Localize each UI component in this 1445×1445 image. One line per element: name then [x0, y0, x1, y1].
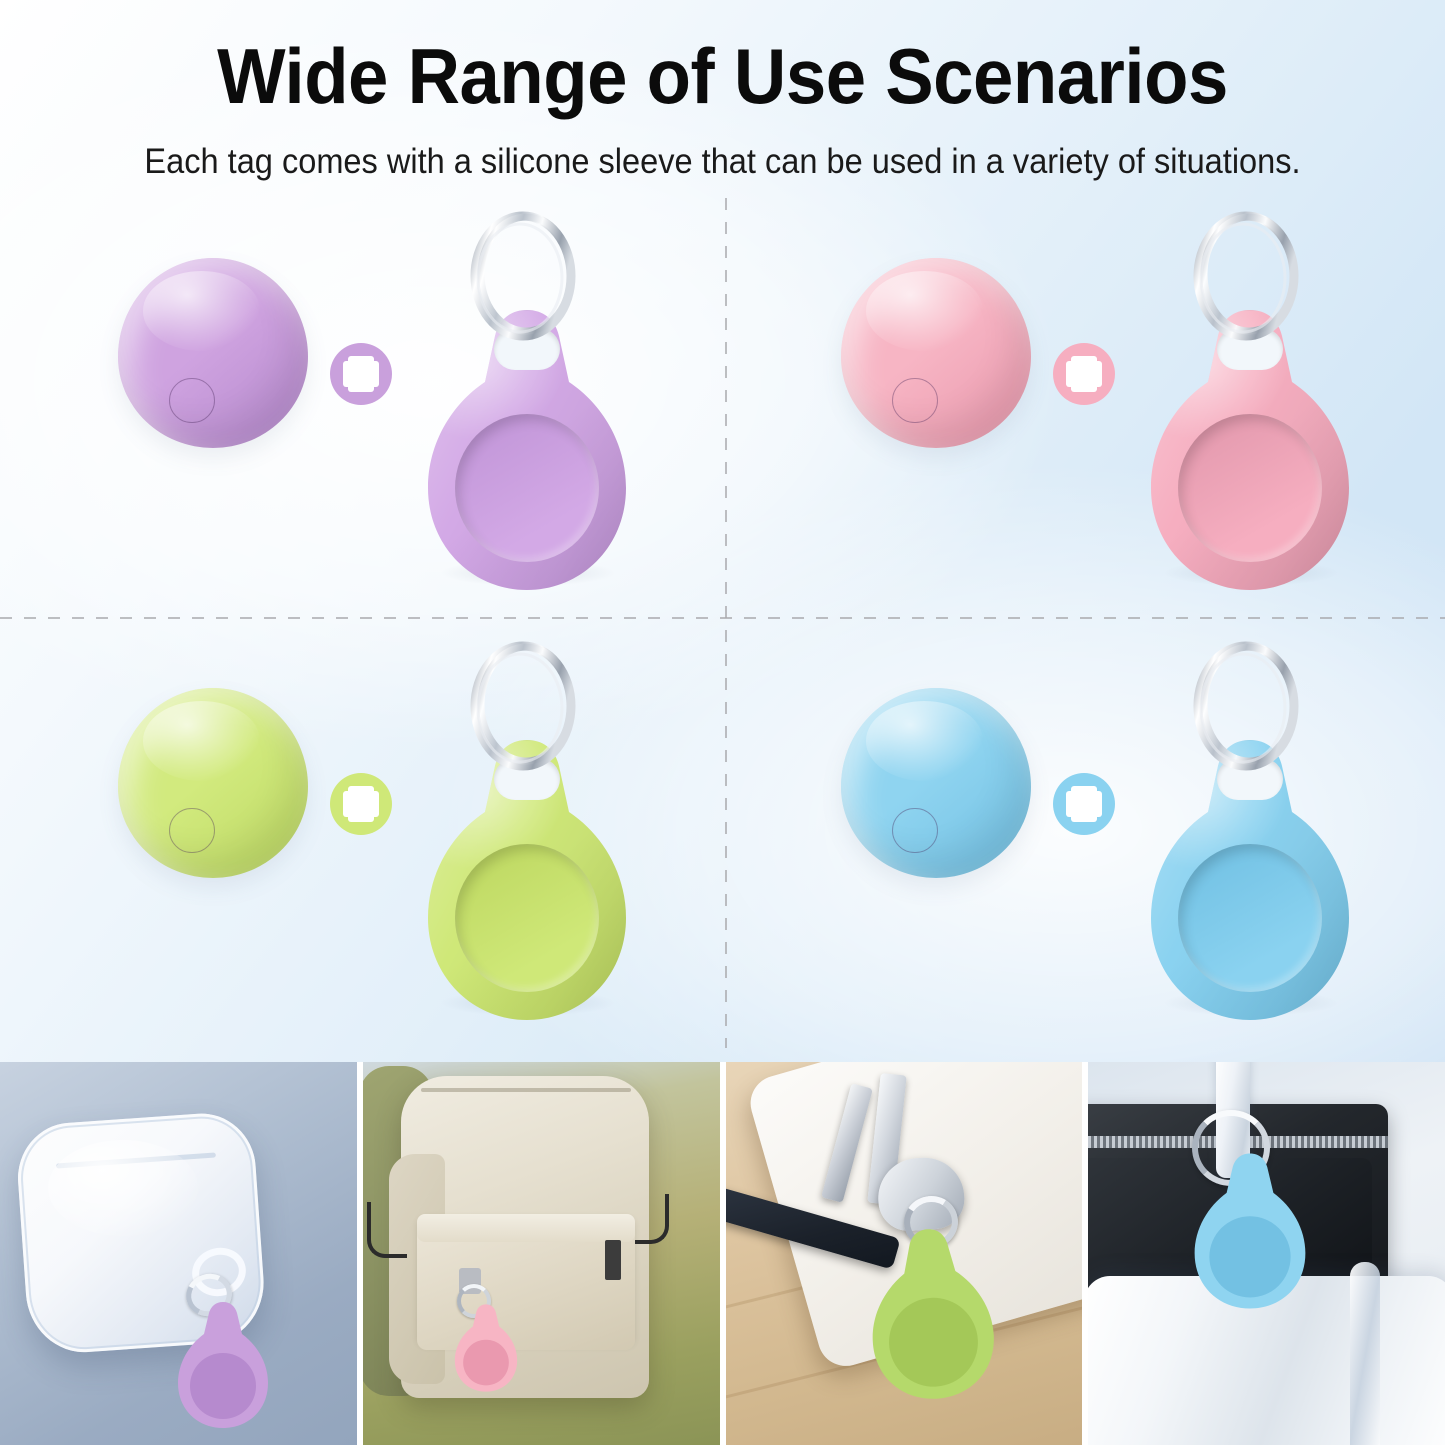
tracker-button-icon[interactable]	[892, 378, 938, 424]
suitcase-edge-highlight	[1350, 1262, 1380, 1445]
scenario-photo-luggage[interactable]	[1088, 1062, 1445, 1445]
case-recess	[455, 414, 599, 562]
tracker-tag-purple[interactable]	[118, 258, 308, 448]
tracker-tag-pink[interactable]	[841, 258, 1031, 448]
earbuds-case-highlight	[48, 1140, 198, 1236]
product-set-blue	[723, 630, 1445, 1050]
backpack-pocket-lip	[417, 1214, 635, 1242]
split-ring-icon	[1187, 638, 1305, 770]
product-set-pink	[723, 200, 1445, 620]
plus-icon	[330, 773, 392, 835]
scenario-photo-strip	[0, 1062, 1445, 1445]
tracker-body	[118, 688, 308, 878]
plus-icon	[330, 343, 392, 405]
product-set-green	[0, 630, 722, 1050]
tracker-button-icon[interactable]	[169, 378, 215, 424]
tracker-button-icon[interactable]	[169, 808, 215, 854]
scenario-photo-keys[interactable]	[726, 1062, 1083, 1445]
page-subtitle: Each tag comes with a silicone sleeve th…	[51, 142, 1395, 182]
case-shell	[412, 740, 642, 1022]
backpack-brand-tab	[605, 1240, 621, 1280]
tracker-body	[841, 688, 1031, 878]
case-recess	[1178, 414, 1322, 562]
backpack-cord-left	[367, 1202, 407, 1258]
attached-tracker-green	[857, 1220, 1006, 1407]
plus-icon	[1053, 343, 1115, 405]
silicone-case-purple[interactable]	[412, 208, 642, 598]
silicone-case-green[interactable]	[412, 638, 642, 1028]
attached-tracker-pink	[450, 1302, 522, 1394]
page-title: Wide Range of Use Scenarios	[51, 36, 1395, 117]
silicone-case-pink[interactable]	[1135, 208, 1365, 598]
plus-icon	[1053, 773, 1115, 835]
case-shell	[412, 310, 642, 592]
backpack-top-seam	[421, 1088, 631, 1092]
tracker-tag-green[interactable]	[118, 688, 308, 878]
tracker-button-icon[interactable]	[892, 808, 938, 854]
hero-panel: Wide Range of Use Scenarios Each tag com…	[0, 0, 1445, 1062]
attached-tracker-blue	[1186, 1150, 1314, 1312]
case-shell	[1135, 740, 1365, 1022]
tracker-body	[118, 258, 308, 448]
tracker-body	[841, 258, 1031, 448]
scenario-photo-earbuds[interactable]	[0, 1062, 357, 1445]
silicone-case-blue[interactable]	[1135, 638, 1365, 1028]
split-ring-icon	[464, 208, 582, 340]
case-recess	[1178, 844, 1322, 992]
split-ring-icon	[1187, 208, 1305, 340]
backpack-cord-right	[635, 1194, 669, 1244]
split-ring-icon	[464, 638, 582, 770]
product-set-purple	[0, 200, 722, 620]
scenario-photo-backpack[interactable]	[363, 1062, 720, 1445]
attached-tracker-purple	[171, 1300, 275, 1430]
tracker-tag-blue[interactable]	[841, 688, 1031, 878]
case-shell	[1135, 310, 1365, 592]
case-recess	[455, 844, 599, 992]
